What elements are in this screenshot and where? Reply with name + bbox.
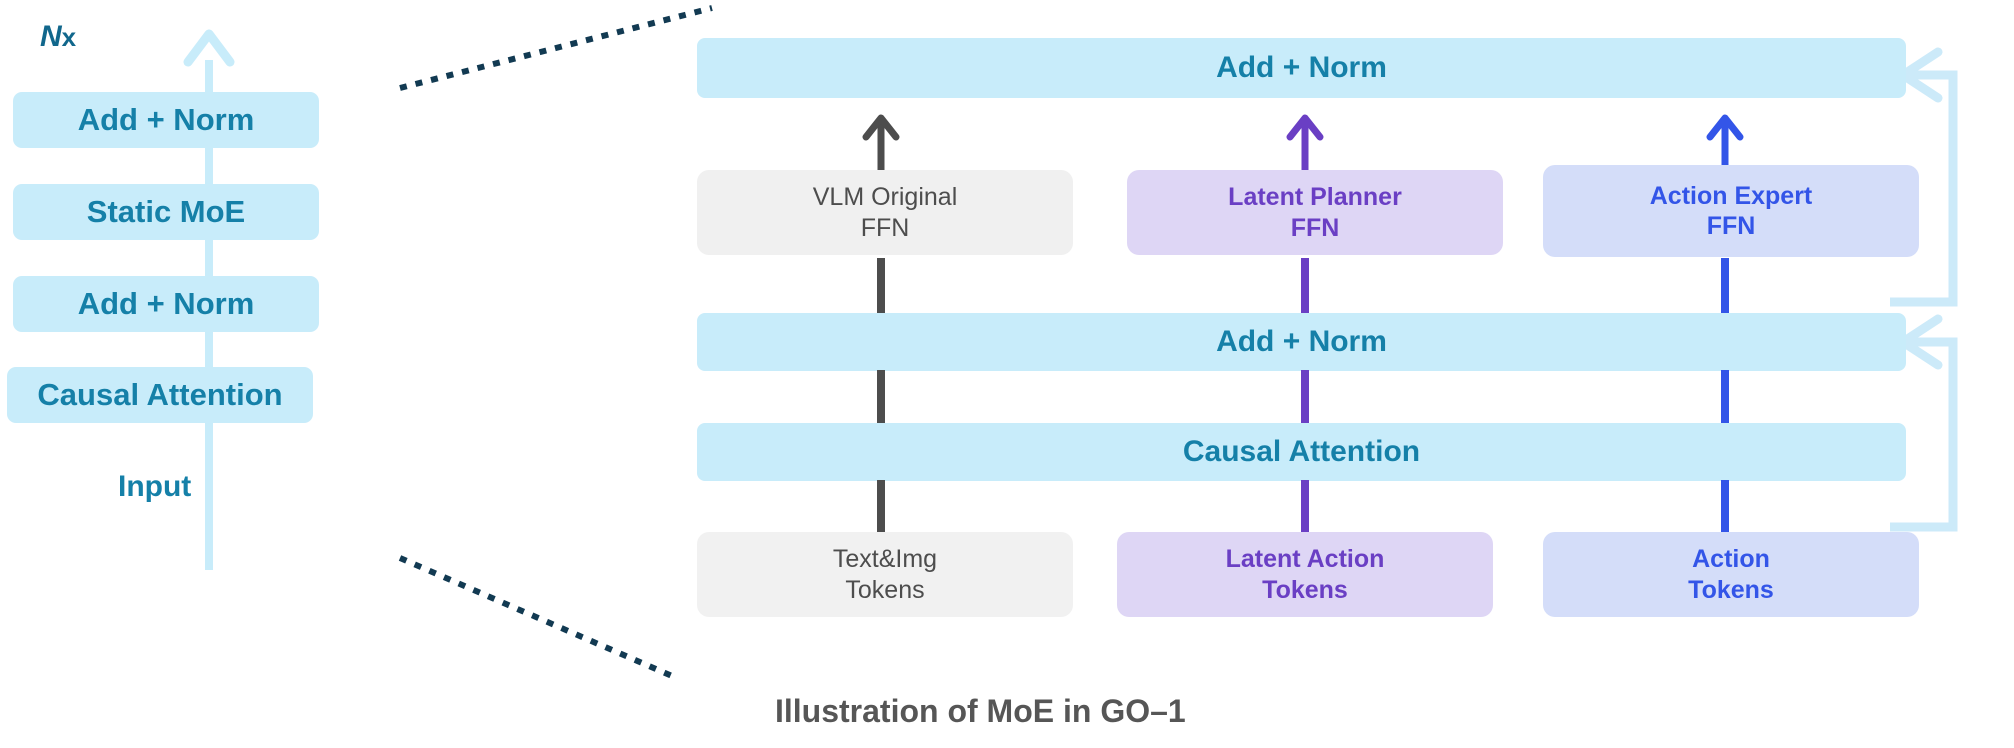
left-block-label: Static MoE (87, 193, 245, 231)
right-bar-label: Causal Attention (1183, 434, 1420, 471)
right-bar-causal-attention[interactable]: Causal Attention (697, 423, 1906, 481)
stream-segment-grey-upper (877, 258, 885, 320)
repeat-count-label: Nx (40, 20, 76, 54)
repeat-count-n: N (40, 20, 62, 53)
expert-box-line2: FFN (1707, 211, 1756, 242)
diagram-canvas: Nx Add + Norm Static MoE Add + Norm Caus… (0, 0, 2014, 748)
stream-segment-grey-lower (877, 480, 885, 532)
left-block-label: Add + Norm (78, 101, 255, 139)
token-box-line2: Tokens (1688, 575, 1774, 606)
left-block-static-moe[interactable]: Static MoE (13, 184, 319, 240)
stream-segment-blue-upper (1721, 258, 1729, 320)
expert-box-line1: Latent Planner (1228, 182, 1402, 213)
right-bar-label: Add + Norm (1216, 324, 1387, 361)
left-block-causal-attention[interactable]: Causal Attention (7, 367, 313, 423)
right-bar-add-norm-mid[interactable]: Add + Norm (697, 313, 1906, 371)
token-box-text-img[interactable]: Text&Img Tokens (697, 532, 1073, 617)
residual-arrowhead-upper (1903, 52, 1938, 98)
stream-segment-purple-lower (1301, 480, 1309, 532)
stream-segment-purple-upper (1301, 258, 1309, 320)
token-box-line1: Text&Img (833, 544, 937, 575)
expert-box-latent-planner-ffn[interactable]: Latent Planner FFN (1127, 170, 1503, 255)
stream-segment-purple-mid (1301, 370, 1309, 423)
token-box-latent-action[interactable]: Latent Action Tokens (1117, 532, 1493, 617)
arrow-head-vlm (866, 118, 896, 137)
input-label: Input (118, 470, 191, 504)
expert-box-line1: Action Expert (1650, 181, 1813, 212)
dotted-connector-bottom (400, 558, 672, 676)
residual-arrowhead-lower (1903, 319, 1938, 365)
arrow-head-action-expert (1710, 118, 1740, 137)
left-block-label: Add + Norm (78, 285, 255, 323)
expert-box-action-expert-ffn[interactable]: Action Expert FFN (1543, 165, 1919, 257)
figure-caption: Illustration of MoE in GO–1 (775, 693, 1186, 730)
dotted-connector-top (400, 8, 712, 88)
token-box-line1: Latent Action (1226, 544, 1385, 575)
token-box-line1: Action (1692, 544, 1770, 575)
left-block-add-norm-top[interactable]: Add + Norm (13, 92, 319, 148)
arrow-head-latent-planner (1290, 118, 1320, 137)
expert-box-line2: FFN (861, 213, 910, 244)
token-box-line2: Tokens (845, 575, 924, 606)
expert-box-line1: VLM Original (813, 182, 958, 213)
left-block-add-norm-bottom[interactable]: Add + Norm (13, 276, 319, 332)
repeat-count-x: x (62, 22, 76, 52)
right-bar-label: Add + Norm (1216, 50, 1387, 87)
stream-segment-blue-lower (1721, 480, 1729, 532)
token-box-line2: Tokens (1262, 575, 1348, 606)
right-bar-add-norm-top[interactable]: Add + Norm (697, 38, 1906, 98)
stream-segment-blue-mid (1721, 370, 1729, 423)
stream-segment-grey-mid (877, 370, 885, 423)
expert-box-vlm-original-ffn[interactable]: VLM Original FFN (697, 170, 1073, 255)
expert-box-line2: FFN (1291, 213, 1340, 244)
left-block-label: Causal Attention (37, 376, 282, 414)
token-box-action[interactable]: Action Tokens (1543, 532, 1919, 617)
